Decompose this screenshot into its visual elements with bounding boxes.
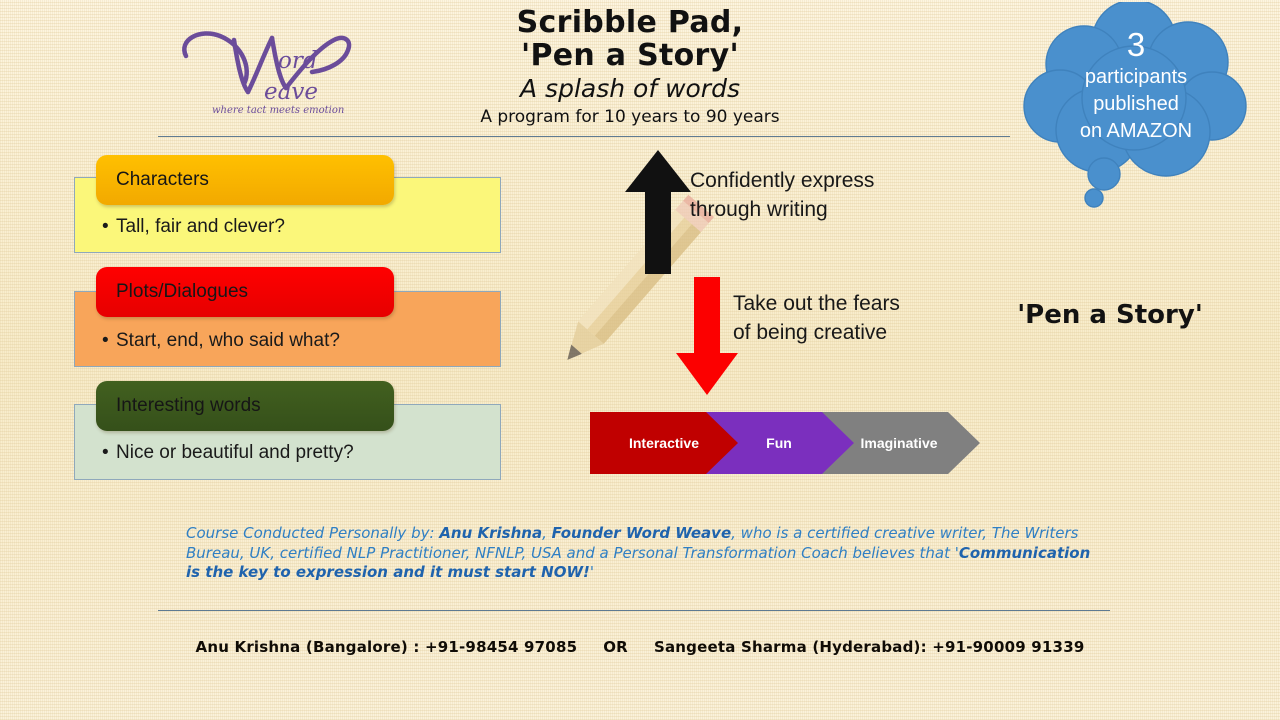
characters-header-label: Characters bbox=[116, 169, 209, 191]
up-arrow-label: Confidently express through writing bbox=[690, 166, 880, 224]
right-tagline: 'Pen a Story' bbox=[990, 300, 1230, 330]
down-arrow-label: Take out the fears of being creative bbox=[733, 289, 913, 347]
bullet-icon: • bbox=[102, 330, 116, 352]
title-subtitle: A splash of words bbox=[400, 73, 860, 105]
word-weave-logo: ord eave where tact meets emotion bbox=[172, 18, 362, 118]
process-chevrons: Interactive Fun Imaginative bbox=[590, 412, 980, 474]
thought-bubble: 3 participants published on AMAZON bbox=[1016, 2, 1256, 212]
interesting-words-header-label: Interesting words bbox=[116, 395, 261, 417]
divider-top bbox=[158, 136, 1010, 137]
course-intro: Course Conducted Personally by: bbox=[186, 524, 435, 542]
interesting-words-bullet-row: •Nice or beautiful and pretty? bbox=[102, 442, 354, 464]
contact-separator: OR bbox=[603, 638, 628, 656]
characters-bullet-row: •Tall, fair and clever? bbox=[102, 216, 285, 238]
plots-dialogues-header-label: Plots/Dialogues bbox=[116, 281, 248, 303]
characters-box-header[interactable]: Characters bbox=[96, 155, 394, 205]
contact-bangalore: Anu Krishna (Bangalore) : +91-98454 9708… bbox=[196, 638, 578, 656]
course-description: Course Conducted Personally by: Anu Kris… bbox=[186, 524, 1106, 583]
plots-dialogues-box-header[interactable]: Plots/Dialogues bbox=[96, 267, 394, 317]
bullet-icon: • bbox=[102, 442, 116, 464]
interesting-words-bullet-text: Nice or beautiful and pretty? bbox=[116, 442, 354, 463]
contact-hyderabad: Sangeeta Sharma (Hyderabad): +91-90009 9… bbox=[654, 638, 1085, 656]
course-presenter-sep: , bbox=[542, 524, 552, 542]
up-arrow-icon bbox=[625, 150, 691, 274]
title-note: A program for 10 years to 90 years bbox=[400, 106, 860, 128]
down-arrow-icon bbox=[676, 277, 738, 395]
interesting-words-box-header[interactable]: Interesting words bbox=[96, 381, 394, 431]
svg-text:ord: ord bbox=[278, 48, 318, 74]
page-title: Scribble Pad, 'Pen a Story' A splash of … bbox=[400, 6, 860, 128]
course-presenter-title: Founder Word Weave bbox=[552, 524, 732, 542]
footer-contacts: Anu Krishna (Bangalore) : +91-98454 9708… bbox=[0, 638, 1280, 656]
title-line-1: Scribble Pad, bbox=[400, 6, 860, 39]
bullet-icon: • bbox=[102, 216, 116, 238]
logo-tagline: where tact meets emotion bbox=[212, 105, 344, 116]
slide-canvas: ord eave where tact meets emotion Scribb… bbox=[0, 0, 1280, 720]
plots-dialogues-bullet-text: Start, end, who said what? bbox=[116, 330, 340, 351]
course-presenter: Anu Krishna bbox=[439, 524, 542, 542]
divider-bottom bbox=[158, 610, 1110, 611]
title-line-2: 'Pen a Story' bbox=[400, 39, 860, 72]
course-quote-end: ' bbox=[590, 563, 594, 581]
svg-text:eave: eave bbox=[264, 79, 318, 105]
characters-bullet-text: Tall, fair and clever? bbox=[116, 216, 285, 237]
plots-dialogues-bullet-row: •Start, end, who said what? bbox=[102, 330, 340, 352]
